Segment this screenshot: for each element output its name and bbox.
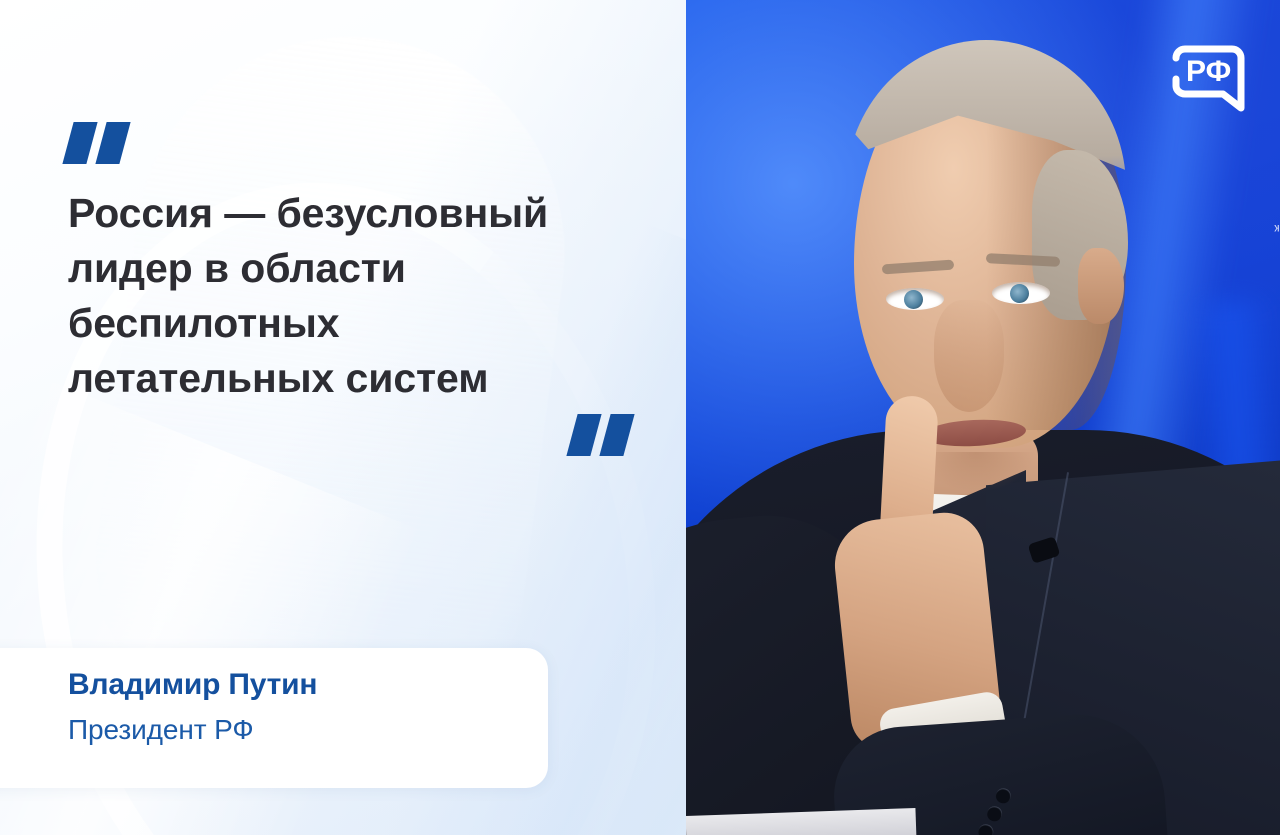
speaker-name: Владимир Путин bbox=[68, 668, 317, 702]
speaker-role: Президент РФ bbox=[68, 714, 254, 746]
attribution-card: Владимир Путин Президент РФ bbox=[0, 648, 548, 788]
opening-quote-mark-icon bbox=[68, 122, 125, 164]
eye-left bbox=[886, 288, 944, 310]
quote-text: Россия — безусловный лидер в области бес… bbox=[68, 186, 628, 406]
ear bbox=[1078, 248, 1124, 324]
quote-card: Россия — безусловный лидер в области бес… bbox=[0, 0, 1280, 835]
quote-panel: Россия — безусловный лидер в области бес… bbox=[0, 0, 686, 835]
svg-text:РФ: РФ bbox=[1186, 55, 1231, 88]
nose bbox=[934, 300, 1004, 412]
rf-speech-bubble-logo: РФ bbox=[1166, 34, 1250, 116]
photo-credit: Фото: Григорий Сысоев / РИА Новости Меди… bbox=[1274, 222, 1280, 236]
closing-quote-mark-icon bbox=[572, 414, 629, 456]
portrait-subject bbox=[686, 0, 1280, 835]
speaker-photo bbox=[686, 0, 1280, 835]
eye-right bbox=[992, 282, 1050, 304]
